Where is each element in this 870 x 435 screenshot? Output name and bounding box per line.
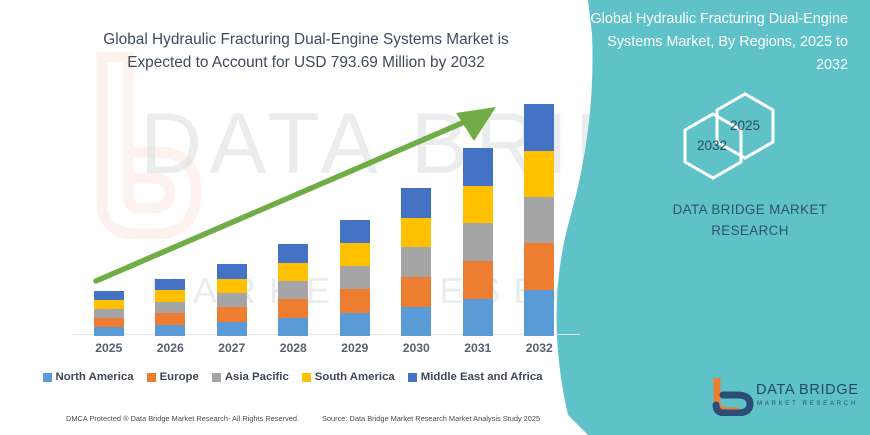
bar-segment (524, 197, 554, 243)
legend-label: Europe (160, 371, 199, 383)
bar-segment (155, 313, 185, 325)
legend-label: North America (56, 371, 134, 383)
infographic-root: DATA BRIDGE MARKET RESEARCH Global Hydra… (0, 0, 870, 435)
bar-segment (463, 299, 493, 336)
x-axis-label: 2025 (79, 341, 139, 355)
bar-segment (217, 307, 247, 322)
legend-swatch (147, 373, 156, 382)
page-title: Global Hydraulic Fracturing Dual-Engine … (96, 28, 516, 75)
legend-item[interactable]: Asia Pacific (212, 371, 289, 383)
x-axis-label: 2028 (263, 341, 323, 355)
legend-swatch (212, 373, 221, 382)
legend-label: South America (315, 371, 395, 383)
bar-segment (524, 151, 554, 197)
panel-title: Global Hydraulic Fracturing Dual-Engine … (580, 8, 848, 76)
legend-label: Asia Pacific (225, 371, 289, 383)
x-axis-labels: 20252026202720282029203020312032 (78, 341, 570, 361)
legend-item[interactable]: North America (43, 371, 134, 383)
bar-segment (94, 327, 124, 336)
bar-segment (278, 299, 308, 318)
bar-column[interactable] (524, 104, 554, 336)
growth-trend-arrow (78, 95, 518, 295)
bar-segment (155, 325, 185, 336)
legend-item[interactable]: Europe (147, 371, 199, 383)
logo-tagline: MARKET RESEARCH (757, 400, 858, 407)
legend-swatch (302, 373, 311, 382)
bar-segment (524, 243, 554, 290)
footer: DMCA Protected ® Data Bridge Market Rese… (0, 414, 600, 432)
bar-segment (94, 300, 124, 309)
bar-segment (94, 318, 124, 327)
x-axis-label: 2030 (386, 341, 446, 355)
x-axis-label: 2031 (448, 341, 508, 355)
bar-column[interactable] (94, 291, 124, 336)
data-bridge-logo: DATA BRIDGE MARKET RESEARCH (712, 378, 862, 422)
hexagon-badges: 2032 2025 (683, 88, 813, 188)
legend-item[interactable]: South America (302, 371, 395, 383)
legend-label: Middle East and Africa (421, 371, 543, 383)
hexagon-label-2025: 2025 (714, 118, 776, 133)
x-axis-label: 2029 (325, 341, 385, 355)
legend-item[interactable]: Middle East and Africa (408, 371, 543, 383)
footer-copyright: DMCA Protected ® Data Bridge Market Rese… (66, 414, 299, 423)
bar-segment (94, 309, 124, 318)
logo-name: DATA BRIDGE (756, 382, 859, 398)
x-axis-label: 2027 (202, 341, 262, 355)
logo-b-mark-icon (712, 378, 754, 416)
chart-region: Global Hydraulic Fracturing Dual-Engine … (0, 0, 585, 435)
bar-segment (401, 307, 431, 337)
brand-name-text: DATA BRIDGE MARKET RESEARCH (640, 200, 860, 242)
bar-segment (278, 318, 308, 336)
hexagon-label-2032: 2032 (681, 138, 743, 153)
legend-swatch (43, 373, 52, 382)
footer-source: Source: Data Bridge Market Research Mark… (322, 414, 540, 423)
x-axis-label: 2032 (509, 341, 569, 355)
x-axis-label: 2026 (140, 341, 200, 355)
bar-segment (340, 313, 370, 336)
bar-segment (524, 104, 554, 151)
chart-legend: North AmericaEuropeAsia PacificSouth Ame… (0, 371, 585, 383)
legend-swatch (408, 373, 417, 382)
bar-segment (217, 322, 247, 336)
bar-segment (524, 290, 554, 336)
bar-segment (155, 302, 185, 313)
